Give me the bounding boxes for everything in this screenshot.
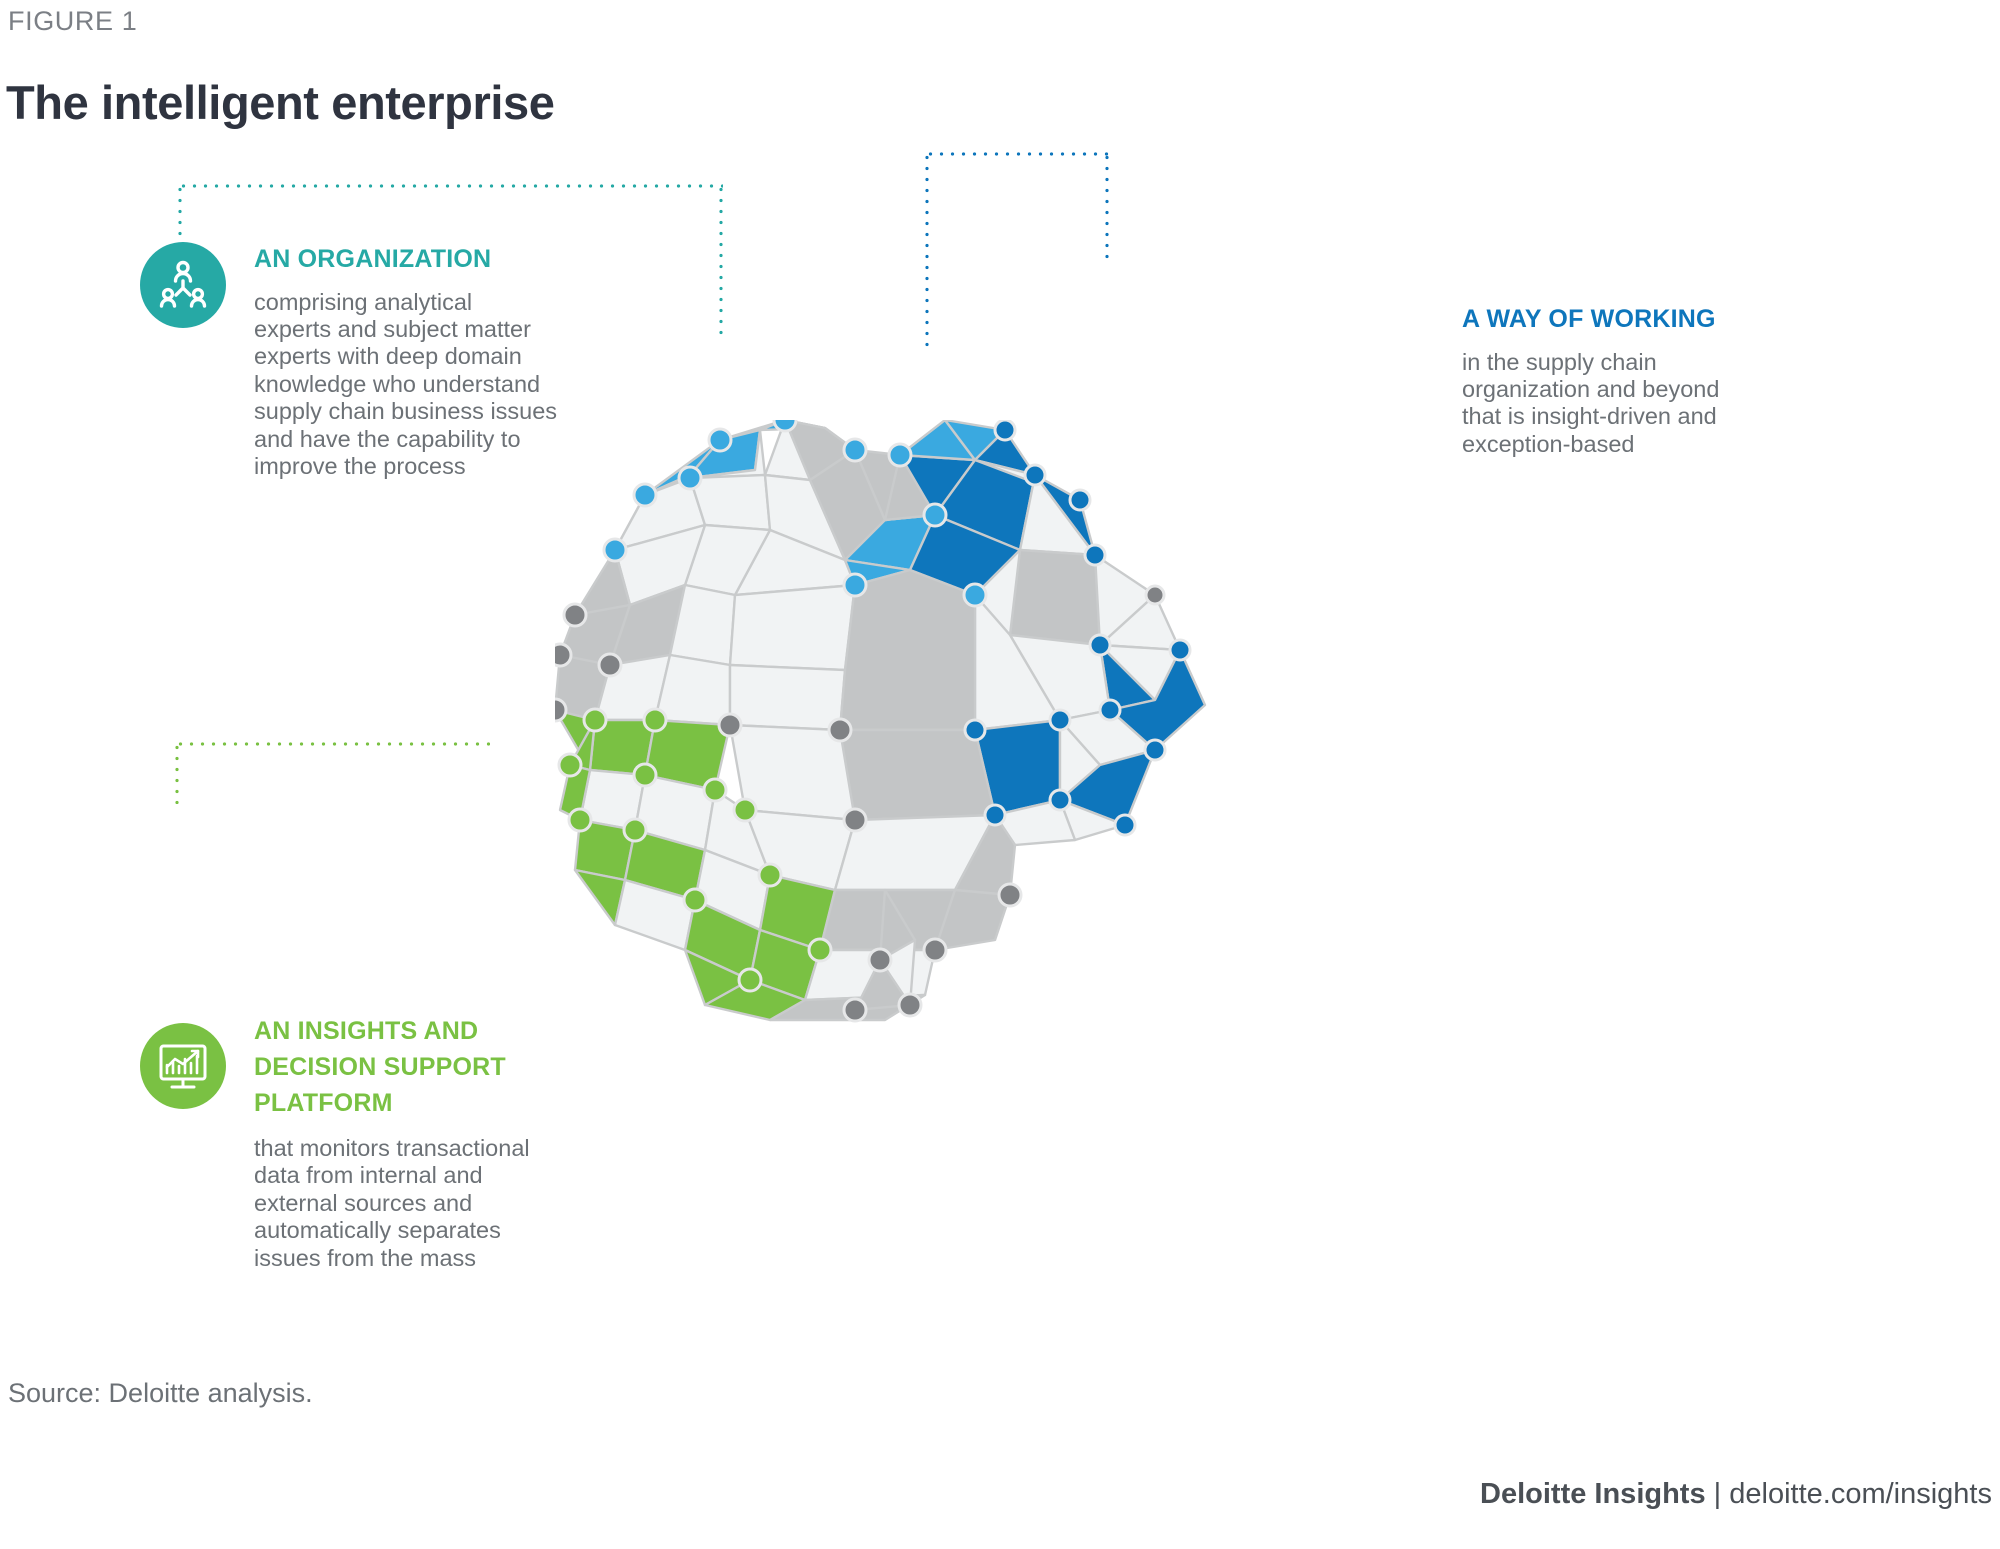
callout-heading-a-way-of-working: A WAY OF WORKING (1462, 302, 1862, 338)
connector-line-platform-left-leg (175, 742, 179, 804)
connector-line-working-left-leg (925, 152, 929, 348)
people-group-icon-badge (140, 242, 226, 328)
connector-line-working-horizontal (925, 152, 1109, 156)
callout-body-an-organization: comprising analytical experts and subjec… (254, 289, 654, 481)
brand-url: deloitte.com/insights (1729, 1478, 1992, 1510)
bar-chart-monitor-icon (157, 1040, 209, 1092)
source-note: Source: Deloitte analysis. (8, 1378, 313, 1409)
figure-label: FIGURE 1 (8, 6, 137, 37)
callout-heading-an-organization: AN ORGANIZATION (254, 242, 654, 278)
brand-name: Deloitte Insights (1480, 1478, 1706, 1510)
connector-line-organization-horizontal (178, 184, 723, 188)
brand-separator: | (1706, 1478, 1730, 1510)
callout-a-way-of-working: A WAY OF WORKING in the supply chain org… (1462, 302, 1862, 458)
connector-line-platform-horizontal (175, 742, 490, 746)
callout-heading-insights-platform: AN INSIGHTS AND DECISION SUPPORT PLATFOR… (254, 1013, 654, 1121)
connector-line-working-right-leg (1105, 152, 1109, 262)
bar-chart-monitor-icon-badge (140, 1023, 226, 1109)
page-title: The intelligent enterprise (6, 75, 554, 130)
callout-body-a-way-of-working: in the supply chain organization and bey… (1462, 349, 1862, 459)
brain-illustration (555, 420, 1295, 1035)
connector-line-organization-right-leg (719, 184, 723, 340)
brain-svg (555, 420, 1295, 1030)
people-group-icon (156, 258, 210, 312)
connector-line-organization-left-leg (178, 184, 182, 246)
callout-body-insights-platform: that monitors transactional data from in… (254, 1135, 654, 1272)
brand-line: Deloitte Insights | deloitte.com/insight… (1480, 1478, 1992, 1511)
